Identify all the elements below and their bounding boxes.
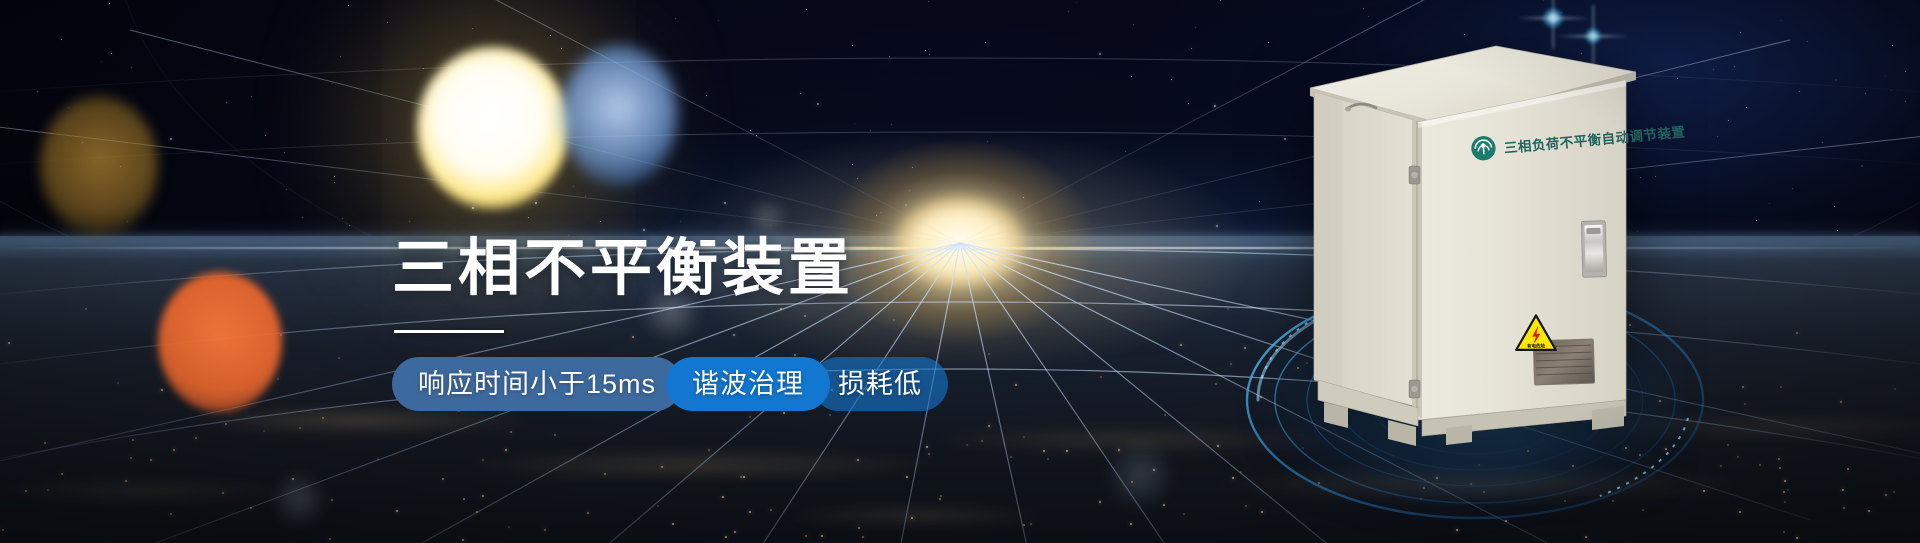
title-divider (394, 330, 504, 333)
banner-copy: 三相不平衡装置 响应时间小于15ms 谐波治理 损耗低 (392, 236, 948, 411)
feature-pill-list: 响应时间小于15ms 谐波治理 损耗低 (392, 357, 948, 411)
product-hero-banner: 三相负荷不平衡自动调节装置 有电危险 三相不平衡装置 响应时间小于15ms 谐波… (0, 0, 1920, 543)
feature-pill-low-loss[interactable]: 损耗低 (812, 357, 948, 411)
three-phase-balancing-cabinet (1296, 28, 1646, 458)
feature-pill-harmonic[interactable]: 谐波治理 (666, 357, 830, 411)
feature-pill-response-time[interactable]: 响应时间小于15ms (392, 357, 682, 411)
page-title: 三相不平衡装置 (392, 236, 948, 302)
